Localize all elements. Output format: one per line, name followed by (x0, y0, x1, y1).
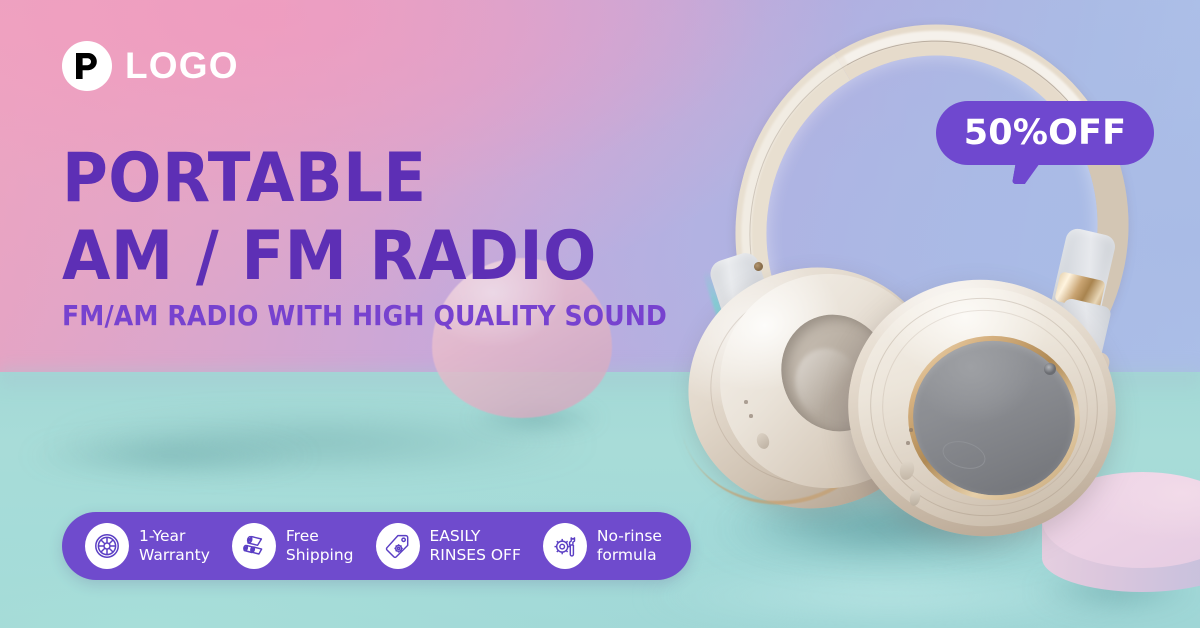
brand-logo[interactable]: LOGO (62, 41, 239, 91)
p-monogram-icon (62, 41, 112, 91)
logs-stack-icon (232, 523, 276, 569)
right-earcup-mic-port (1044, 363, 1056, 375)
tag-gear-icon (376, 523, 420, 569)
feature-bar: 1-Year Warranty (62, 512, 691, 580)
feature-label: 1-Year Warranty (139, 527, 210, 565)
floor-shadow-band (0, 430, 380, 482)
left-earcup-led-dot (749, 414, 753, 418)
right-earcup-led-dot (906, 441, 910, 445)
promo-badge-text: 50%OFF (964, 113, 1127, 153)
feature-item-warranty[interactable]: 1-Year Warranty (74, 523, 221, 569)
feature-label: Free Shipping (286, 527, 354, 565)
gear-wrench-icon (543, 523, 587, 569)
feature-item-rinses-off[interactable]: EASILY RINSES OFF (365, 523, 532, 569)
left-earcup-led-dot (744, 400, 748, 404)
promo-badge[interactable]: 50%OFF (936, 101, 1154, 165)
wheel-icon (85, 523, 129, 569)
headline-line-2: AM / FM RADIO (62, 218, 632, 296)
logo-text: LOGO (125, 45, 239, 87)
right-earcup-led-dot (909, 428, 913, 432)
feature-label: EASILY RINSES OFF (430, 527, 521, 565)
product-headphones (648, 18, 1168, 538)
feature-item-no-rinse[interactable]: No-rinse formula (532, 523, 673, 569)
feature-item-shipping[interactable]: Free Shipping (221, 523, 365, 569)
feature-label: No-rinse formula (597, 527, 662, 565)
headline-line-1: PORTABLE (62, 140, 632, 218)
promo-banner: LOGO PORTABLE AM / FM RADIO FM/AM RADIO … (0, 0, 1200, 628)
headline-block: PORTABLE AM / FM RADIO FM/AM RADIO WITH … (62, 140, 682, 332)
headline-subtitle: FM/AM RADIO WITH HIGH QUALITY SOUND (62, 300, 620, 332)
